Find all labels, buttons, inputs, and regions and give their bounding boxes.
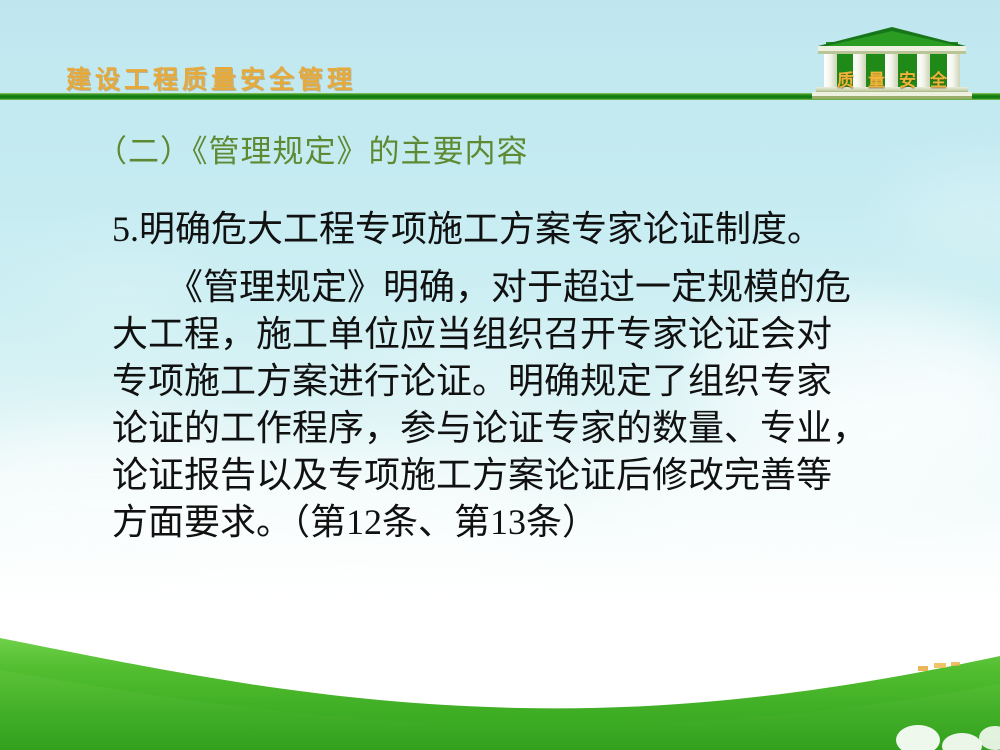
section-heading: （二）《管理规定》的主要内容	[96, 126, 529, 171]
paragraph-line: 论证报告以及专项施工方案论证后修改完善等	[112, 452, 912, 499]
paragraph-line: 论证的工作程序，参与论证专家的数量、专业，	[112, 405, 912, 452]
classical-temple-icon	[808, 24, 976, 102]
paragraph-line: 专项施工方案进行论证。明确规定了组织专家	[112, 358, 912, 405]
logo: 质量安全	[808, 24, 976, 102]
slide-canvas: 建设工程质量安全管理	[0, 0, 1000, 750]
grass-hill-decoration	[0, 630, 1000, 750]
body-content: 5.明确危大工程专项施工方案专家论证制度。 《管理规定》明确，对于超过一定规模的…	[112, 206, 912, 546]
paragraph-line: 《管理规定》明确，对于超过一定规模的危	[112, 264, 912, 311]
numbered-item: 5.明确危大工程专项施工方案专家论证制度。	[112, 206, 912, 253]
header-title: 建设工程质量安全管理	[66, 60, 356, 96]
paragraph-line: 方面要求。（第12条、第13条）	[112, 499, 912, 546]
paragraph-line: 大工程，施工单位应当组织召开专家论证会对	[112, 311, 912, 358]
